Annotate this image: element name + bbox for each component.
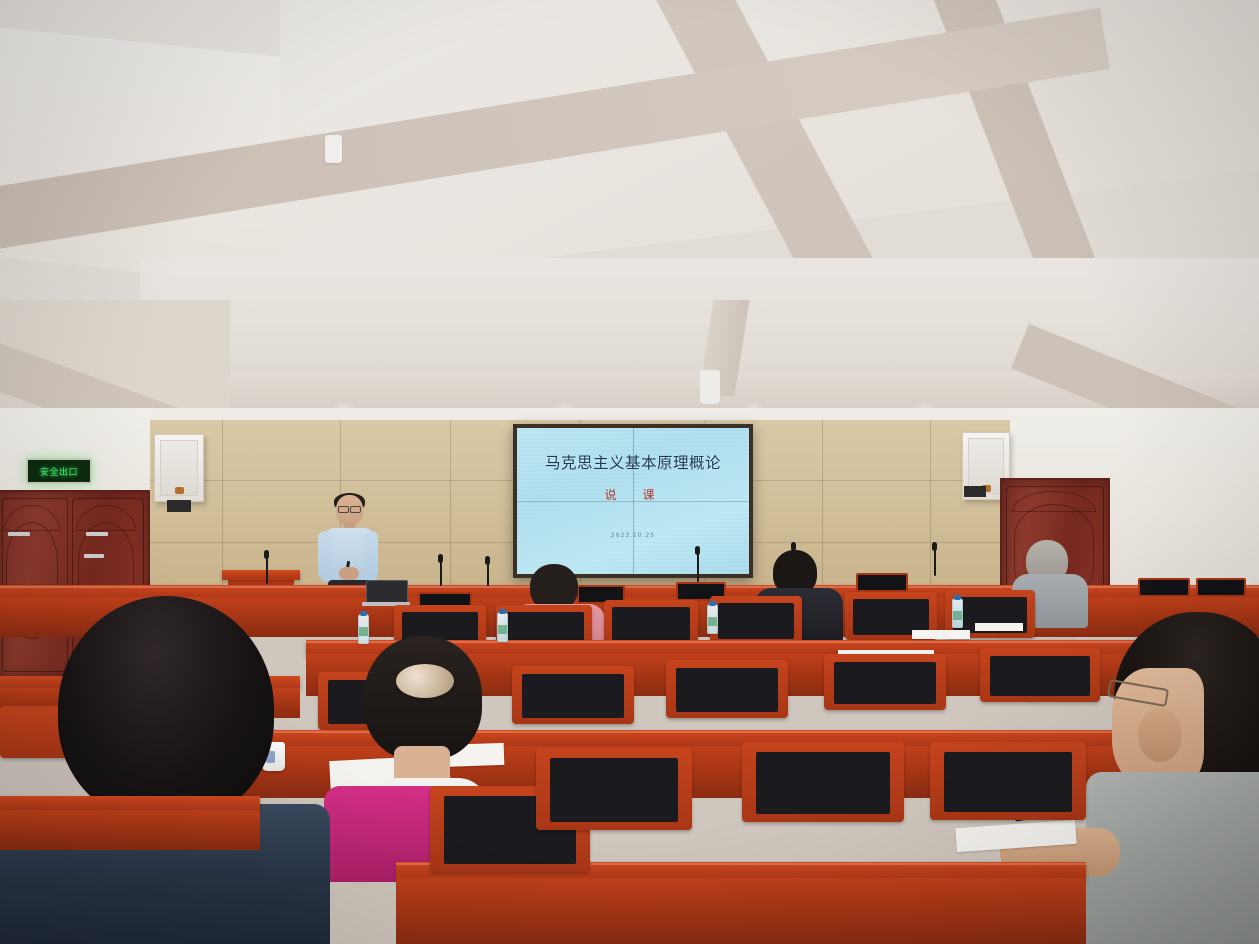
bottle-cap-icon	[360, 611, 367, 616]
chair-cushion	[550, 758, 678, 822]
water-bottle[interactable]	[952, 598, 963, 628]
speaker-mount-right	[964, 486, 986, 497]
microphone-icon	[487, 562, 489, 586]
microphone-head-icon	[264, 550, 269, 559]
audience-hair	[364, 636, 482, 760]
chair-cushion	[990, 656, 1090, 696]
desk-monitor[interactable]	[1196, 578, 1246, 597]
exit-sign-label: 安全出口	[40, 465, 78, 478]
microphone-head-icon	[932, 542, 937, 551]
bench-left-front	[0, 810, 260, 850]
podium-top	[222, 570, 300, 580]
presenter-hands	[339, 567, 359, 580]
chair-cushion	[522, 674, 624, 718]
microphone-icon	[697, 552, 699, 582]
microphone-icon	[266, 556, 268, 584]
speaker-mount-left	[167, 500, 191, 512]
chair-cushion	[718, 603, 794, 639]
audience-ear	[1138, 708, 1182, 762]
water-bottle[interactable]	[707, 604, 718, 634]
slide-title: 马克思主义基本原理概论	[517, 451, 749, 473]
bottle-label	[953, 611, 962, 620]
desk-monitor[interactable]	[1138, 578, 1190, 597]
audience-member	[24, 596, 304, 944]
paper-sheet	[912, 630, 970, 639]
chair-cushion	[612, 607, 690, 643]
slide-subtitle: 说 课	[517, 486, 749, 503]
bottle-label	[498, 625, 507, 634]
bottle-label	[708, 617, 717, 626]
glasses-icon	[338, 506, 361, 511]
speaker-logo-icon	[175, 487, 184, 494]
slide-date: 2023.10.25	[517, 532, 749, 539]
bottle-cap-icon	[954, 595, 961, 600]
bottle-label	[359, 627, 368, 636]
microphone-head-icon	[485, 556, 490, 565]
desk-monitor[interactable]	[856, 573, 908, 592]
lecture-hall-photo: 安全出口 马克思主义基本原理概论 说 课 2023.10	[0, 0, 1259, 944]
wall-speaker-left	[154, 434, 204, 502]
audience-hair	[58, 596, 274, 822]
bottle-cap-icon	[499, 609, 506, 614]
microphone-head-icon	[438, 554, 443, 563]
presenter-arm-left	[318, 531, 332, 579]
ceiling	[0, 0, 1259, 440]
chair-cushion	[676, 668, 778, 712]
microphone-head-icon	[695, 546, 700, 555]
microphone-icon	[440, 560, 442, 586]
ceiling-speaker-icon	[700, 370, 720, 404]
chair-cushion	[756, 752, 890, 814]
chair-cushion	[944, 752, 1072, 812]
emergency-exit-sign: 安全出口	[26, 458, 92, 484]
smoke-detector-icon	[325, 135, 342, 163]
microphone-icon	[934, 548, 936, 576]
paper-sheet	[975, 623, 1023, 631]
projection-screen-frame: 马克思主义基本原理概论 说 课 2023.10.25	[513, 424, 753, 578]
hair-clip-icon	[396, 664, 454, 698]
desk-row-4-front	[396, 878, 1086, 944]
chair-cushion	[834, 662, 936, 704]
audience-member	[1096, 612, 1259, 944]
presenter-arm-right	[364, 531, 378, 579]
bottle-cap-icon	[709, 601, 716, 606]
projection-screen[interactable]: 马克思主义基本原理概论 说 课 2023.10.25	[517, 428, 749, 574]
